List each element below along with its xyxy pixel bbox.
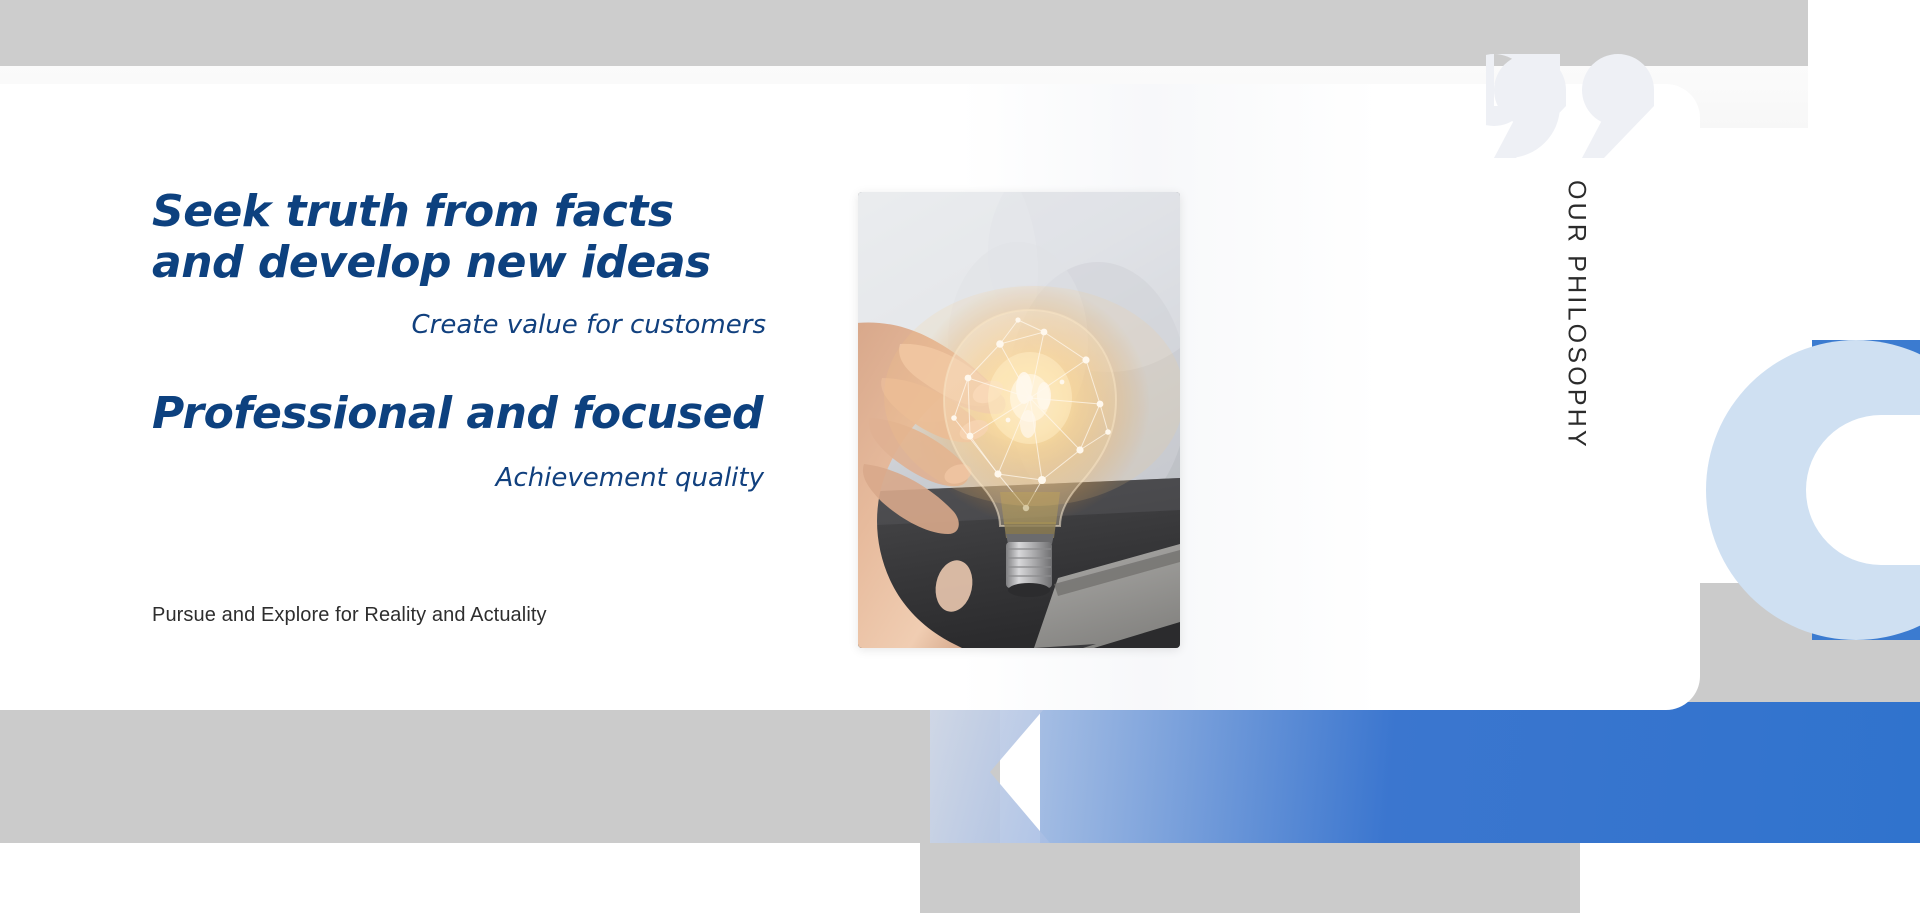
bottom-right-gray-band — [920, 843, 1580, 913]
subline-secondary: Achievement quality — [152, 463, 792, 493]
c-letter-shape — [1706, 340, 1920, 640]
section-label-text: OUR PHILOSOPHY — [1562, 180, 1591, 450]
section-label-vertical: OUR PHILOSOPHY — [1556, 180, 1596, 480]
lightbulb-photo — [858, 192, 1180, 648]
subline-primary: Create value for customers — [152, 310, 792, 340]
headline-secondary: Professional and focused — [152, 388, 792, 439]
headline-line-1: Seek truth from facts — [152, 186, 674, 237]
bottom-left-gray-band — [0, 710, 1000, 843]
headline-primary: Seek truth from facts and develop new id… — [152, 186, 792, 288]
footer-tagline: Pursue and Explore for Reality and Actua… — [152, 604, 547, 627]
quotation-mark-icon — [1486, 46, 1666, 166]
slide-canvas: OUR PHILOSOPHY — [0, 0, 1920, 913]
headline-line-2: and develop new ideas — [152, 237, 792, 288]
bottom-blue-banner — [1040, 702, 1920, 843]
philosophy-text-block: Seek truth from facts and develop new id… — [152, 186, 792, 493]
